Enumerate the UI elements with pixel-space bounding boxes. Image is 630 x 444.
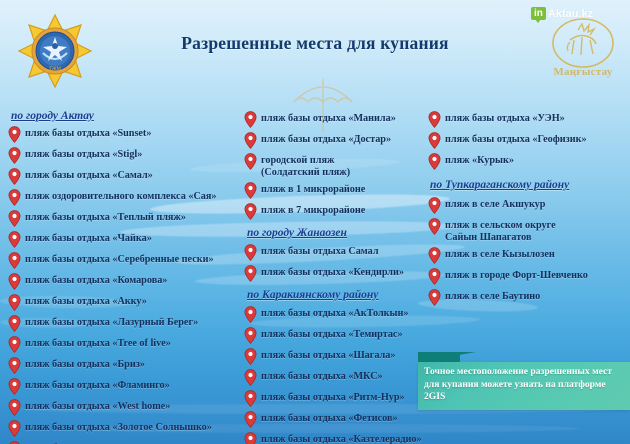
list-item-label: городской пляж (Солдатский пляж): [261, 152, 350, 179]
map-pin-icon: [244, 432, 257, 444]
map-pin-icon: [8, 399, 21, 416]
list-item: пляж базы отдыха «Золотое Солнышко»: [8, 419, 240, 438]
info-banner-text: Точное местоположение разрешенных мест д…: [424, 366, 628, 404]
map-pin-icon: [8, 294, 21, 311]
list-item-label: пляж базы отдыха «Геофизик»: [445, 131, 587, 146]
list-item-label: пляж в селе Кызылозен: [445, 246, 555, 261]
map-pin-icon: [8, 294, 21, 311]
map-pin-icon: [8, 399, 21, 416]
list-item: пляж в 1 микрорайоне: [244, 181, 430, 200]
list-item: пляж в селе Акшукур: [428, 196, 626, 215]
list-item-label: пляж базы отдыха «Фламинго»: [25, 377, 170, 392]
map-pin-icon: [8, 126, 21, 143]
list-item: пляж в селе Баутино: [428, 288, 626, 307]
map-pin-icon: [8, 336, 21, 353]
column-right: пляж базы отдыха «УЭН»пляж базы отдыха «…: [428, 110, 626, 309]
list-item-label: пляж базы отдыха «Бриз»: [25, 356, 145, 371]
list-item-label: пляж базы отдыха «АкТолкын»: [261, 305, 408, 320]
list-item: пляж базы отдыха «Темиртас»: [244, 326, 430, 345]
map-pin-icon: [244, 153, 257, 170]
map-pin-icon: [244, 306, 257, 323]
list-item-label: пляж базы отдыха «Фетисов»: [261, 410, 398, 425]
list-aktau-cont: пляж базы отдыха «Манила»пляж базы отдых…: [244, 110, 430, 221]
poster-root: ТЖМ in Aktau.kz Маңғыстау Разрешенные ме…: [0, 0, 630, 444]
map-pin-icon: [244, 327, 257, 344]
list-item-label: пляж базы отдыха «Самал»: [25, 167, 153, 182]
map-pin-icon: [8, 336, 21, 353]
map-pin-icon: [428, 132, 441, 149]
map-pin-icon: [244, 203, 257, 220]
section-heading-aktau: по городу Актау: [11, 110, 240, 122]
list-item: пляж в 7 микрорайоне: [244, 202, 430, 221]
list-item: пляж базы отдыха «Акку»: [8, 293, 240, 312]
list-item: пляж базы отдыха «Геофизик»: [428, 131, 626, 150]
list-item-label: пляж базы отдыха «Темиртас»: [261, 326, 403, 341]
map-pin-icon: [428, 153, 441, 170]
list-item: пляж базы отдыха «Кендирли»: [244, 264, 430, 283]
list-item: пляж базы отдыха «Бриз»: [8, 356, 240, 375]
map-pin-icon: [8, 189, 21, 206]
map-pin-icon: [8, 210, 21, 227]
svg-text:ТЖМ: ТЖМ: [49, 67, 62, 72]
page-title: Разрешенные места для купания: [0, 33, 630, 54]
map-pin-icon: [428, 289, 441, 306]
list-zhanaozen: пляж базы отдыха Самалпляж базы отдыха «…: [244, 243, 430, 283]
list-item: пляж базы отдыха «Sunset»: [8, 125, 240, 144]
map-pin-icon: [8, 147, 21, 164]
map-pin-icon: [8, 168, 21, 185]
list-item: пляж базы отдыха «Чайка»: [8, 230, 240, 249]
list-item: пляж базы отдыха «Нур Плаза»: [8, 440, 240, 444]
map-pin-icon: [428, 111, 441, 128]
map-pin-icon: [428, 111, 441, 128]
map-pin-icon: [8, 420, 21, 437]
map-pin-icon: [8, 378, 21, 395]
map-pin-icon: [244, 411, 257, 428]
list-item: пляж базы отдыха «Фетисов»: [244, 410, 430, 429]
list-item: пляж базы отдыха «Теплый пляж»: [8, 209, 240, 228]
list-item-label: пляж базы отдыха «Акку»: [25, 293, 147, 308]
map-pin-icon: [244, 203, 257, 220]
map-pin-icon: [8, 231, 21, 248]
info-banner: Точное местоположение разрешенных мест д…: [418, 362, 630, 410]
list-item: пляж в селе Кызылозен: [428, 246, 626, 265]
map-pin-icon: [428, 268, 441, 285]
list-item-label: пляж в 7 микрорайоне: [261, 202, 365, 217]
map-pin-icon: [8, 168, 21, 185]
list-item-label: пляж базы отдыха «Достар»: [261, 131, 391, 146]
list-item-label: пляж базы отдыха «Кендирли»: [261, 264, 404, 279]
list-item-label: пляж базы отдыха «Нур Плаза»: [25, 440, 172, 444]
map-pin-icon: [428, 247, 441, 264]
map-pin-icon: [8, 273, 21, 290]
map-pin-icon: [244, 182, 257, 199]
map-pin-icon: [8, 357, 21, 374]
list-item-label: пляж базы отдыха «Sunset»: [25, 125, 151, 140]
list-item-label: пляж базы отдыха «Tree of live»: [25, 335, 171, 350]
map-pin-icon: [428, 247, 441, 264]
map-pin-icon: [8, 231, 21, 248]
list-item: пляж базы отдыха «Tree of live»: [8, 335, 240, 354]
list-item-label: пляж базы отдыха «Лазурный Берег»: [25, 314, 198, 329]
list-karakiyan-cont: пляж базы отдыха «УЭН»пляж базы отдыха «…: [428, 110, 626, 171]
list-item-label: пляж базы отдыха «Ритм-Нур»: [261, 389, 405, 404]
list-item: пляж базы отдыха «Манила»: [244, 110, 430, 129]
list-item-label: пляж в селе Акшукур: [445, 196, 545, 211]
list-item: пляж базы отдыха «Комарова»: [8, 272, 240, 291]
list-item: пляж базы отдыха «Лазурный Берег»: [8, 314, 240, 333]
map-pin-icon: [244, 369, 257, 386]
list-item-label: пляж базы отдыха «Серебренные пески»: [25, 251, 214, 266]
list-karakiyan: пляж базы отдыха «АкТолкын»пляж базы отд…: [244, 305, 430, 444]
list-item-label: пляж базы отдыха «Шагала»: [261, 347, 395, 362]
map-pin-icon: [244, 111, 257, 128]
column-middle: пляж базы отдыха «Манила»пляж базы отдых…: [244, 110, 430, 444]
map-pin-icon: [8, 420, 21, 437]
list-item: пляж базы отдыха «МКС»: [244, 368, 430, 387]
map-pin-icon: [244, 265, 257, 282]
list-item-label: пляж базы отдыха «УЭН»: [445, 110, 565, 125]
list-item: пляж базы отдыха «Самал»: [8, 167, 240, 186]
map-pin-icon: [244, 182, 257, 199]
list-item-label: пляж «Курык»: [445, 152, 514, 167]
list-tupkaragan: пляж в селе Акшукурпляж в сельском округ…: [428, 196, 626, 307]
map-pin-icon: [244, 348, 257, 365]
map-pin-icon: [428, 132, 441, 149]
list-item: городской пляж (Солдатский пляж): [244, 152, 430, 179]
section-heading-karakiyan: по Каракиянскому району: [247, 289, 430, 301]
map-pin-icon: [244, 132, 257, 149]
list-item-label: пляж базы отдыха «Теплый пляж»: [25, 209, 186, 224]
list-item: пляж в сельском округе Сайын Шапагатов: [428, 217, 626, 244]
map-pin-icon: [8, 273, 21, 290]
section-heading-zhanaozen: по городу Жанаозен: [247, 227, 430, 239]
list-item-label: пляж в селе Баутино: [445, 288, 540, 303]
list-aktau: пляж базы отдыха «Sunset»пляж базы отдых…: [8, 125, 240, 444]
list-item-label: пляж базы отдыха «Чайка»: [25, 230, 152, 245]
region-emblem-caption: Маңғыстау: [548, 66, 618, 78]
map-pin-icon: [8, 357, 21, 374]
map-pin-icon: [8, 126, 21, 143]
map-pin-icon: [8, 147, 21, 164]
map-pin-icon: [8, 189, 21, 206]
map-pin-icon: [244, 432, 257, 444]
list-item: пляж базы отдыха «Шагала»: [244, 347, 430, 366]
list-item-label: пляж базы отдыха «Золотое Солнышко»: [25, 419, 212, 434]
list-item-label: пляж базы отдыха «Казтелерадио»: [261, 431, 422, 444]
map-pin-icon: [8, 210, 21, 227]
list-item: пляж оздоровительного комплекса «Сая»: [8, 188, 240, 207]
map-pin-icon: [244, 306, 257, 323]
banner-accent-triangle: [418, 352, 476, 362]
list-item: пляж «Курык»: [428, 152, 626, 171]
list-item: пляж базы отдыха «АкТолкын»: [244, 305, 430, 324]
list-item: пляж базы отдыха «Достар»: [244, 131, 430, 150]
map-pin-icon: [244, 111, 257, 128]
map-pin-icon: [8, 378, 21, 395]
map-pin-icon: [244, 390, 257, 407]
list-item: пляж базы отдыха «УЭН»: [428, 110, 626, 129]
list-item: пляж базы отдыха «Stigl»: [8, 146, 240, 165]
map-pin-icon: [244, 390, 257, 407]
map-pin-icon: [428, 197, 441, 214]
list-item-label: пляж базы отдыха «Манила»: [261, 110, 396, 125]
map-pin-icon: [428, 153, 441, 170]
map-pin-icon: [8, 252, 21, 269]
list-item: пляж базы отдыха Самал: [244, 243, 430, 262]
map-pin-icon: [428, 218, 441, 235]
list-item: пляж базы отдыха «Казтелерадио»: [244, 431, 430, 444]
map-pin-icon: [8, 252, 21, 269]
list-item-label: пляж оздоровительного комплекса «Сая»: [25, 188, 217, 203]
map-pin-icon: [428, 197, 441, 214]
list-item: пляж в городе Форт-Шевченко: [428, 267, 626, 286]
map-pin-icon: [8, 315, 21, 332]
map-pin-icon: [244, 132, 257, 149]
map-pin-icon: [428, 268, 441, 285]
map-pin-icon: [8, 315, 21, 332]
list-item-label: пляж в городе Форт-Шевченко: [445, 267, 588, 282]
list-item-label: пляж в сельском округе Сайын Шапагатов: [445, 217, 556, 244]
map-pin-icon: [244, 369, 257, 386]
list-item-label: пляж базы отдыха «West home»: [25, 398, 170, 413]
map-pin-icon: [244, 265, 257, 282]
list-item-label: пляж в 1 микрорайоне: [261, 181, 365, 196]
section-heading-tupkaragan: по Тупкараганскому району: [430, 179, 626, 191]
list-item-label: пляж базы отдыха «Stigl»: [25, 146, 142, 161]
map-pin-icon: [428, 289, 441, 306]
map-pin-icon: [244, 153, 257, 170]
list-item: пляж базы отдыха «West home»: [8, 398, 240, 417]
map-pin-icon: [244, 348, 257, 365]
region-emblem: Маңғыстау: [548, 18, 618, 90]
map-pin-icon: [428, 218, 441, 235]
list-item: пляж базы отдыха «Фламинго»: [8, 377, 240, 396]
list-item: пляж базы отдыха «Ритм-Нур»: [244, 389, 430, 408]
map-pin-icon: [244, 327, 257, 344]
list-item-label: пляж базы отдыха «МКС»: [261, 368, 383, 383]
list-item: пляж базы отдыха «Серебренные пески»: [8, 251, 240, 270]
watermark-tag: in: [531, 7, 546, 20]
list-item-label: пляж базы отдыха «Комарова»: [25, 272, 167, 287]
map-pin-icon: [244, 244, 257, 261]
list-item-label: пляж базы отдыха Самал: [261, 243, 379, 258]
map-pin-icon: [244, 411, 257, 428]
column-left: по городу Актау пляж базы отдыха «Sunset…: [8, 110, 240, 444]
map-pin-icon: [244, 244, 257, 261]
